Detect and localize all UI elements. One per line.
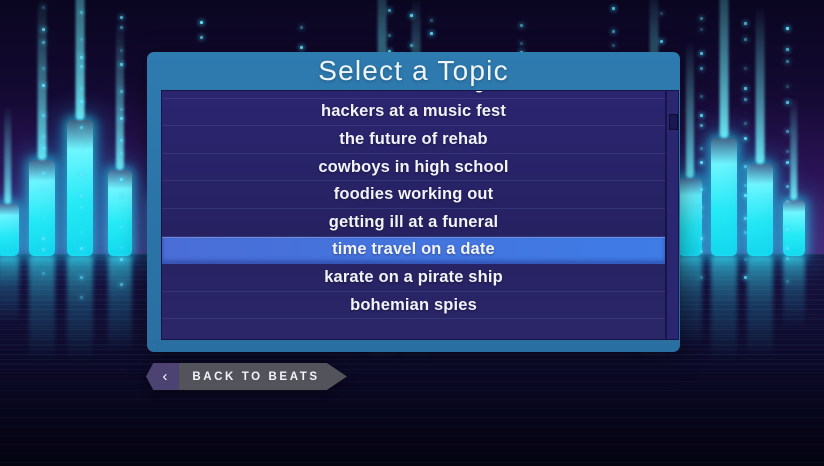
visualizer-bar-glow: [686, 41, 694, 178]
particle-dot: [612, 44, 615, 47]
particle-dot: [612, 30, 615, 33]
particle-dot: [120, 139, 123, 142]
particle-dot: [700, 114, 703, 117]
particle-dot: [80, 87, 83, 90]
particle-dot: [80, 194, 83, 197]
particle-dot: [80, 38, 83, 41]
particle-dot: [300, 26, 303, 29]
particle-dot: [80, 56, 83, 59]
particle-dot: [120, 195, 123, 198]
particle-dot: [42, 135, 45, 138]
particle-dot: [700, 52, 703, 55]
particle-dot: [700, 67, 703, 70]
particle-dot: [786, 280, 789, 283]
list-item[interactable]: heartache in las vegas: [162, 90, 665, 99]
particle-column: [120, 0, 123, 250]
visualizer-bar-reflection: [747, 256, 773, 358]
particle-dot: [786, 27, 789, 30]
particle-dot: [410, 44, 413, 47]
particle-dot: [42, 237, 45, 240]
particle-dot: [612, 7, 615, 10]
visualizer-bar: [0, 204, 19, 256]
visualizer-bar-glow: [720, 0, 729, 138]
particle-dot: [786, 101, 789, 104]
visualizer-bar-reflection: [783, 256, 805, 328]
particle-column: [80, 0, 83, 250]
particle-dot: [120, 117, 123, 120]
particle-column: [42, 0, 45, 250]
particle-dot: [744, 22, 747, 25]
particle-dot: [700, 206, 703, 209]
particle-dot: [120, 152, 123, 155]
visualizer-bar: [678, 178, 702, 256]
particle-dot: [744, 122, 747, 125]
particle-dot: [120, 225, 123, 228]
particle-dot: [744, 184, 747, 187]
particle-dot: [786, 200, 789, 203]
particle-dot: [120, 283, 123, 286]
list-item[interactable]: foodies working out: [162, 181, 665, 209]
particle-dot: [520, 24, 523, 27]
particle-dot: [42, 272, 45, 275]
particle-dot: [80, 65, 83, 68]
particle-column: [786, 0, 789, 250]
particle-dot: [42, 6, 45, 9]
particle-dot: [120, 258, 123, 261]
particle-dot: [744, 165, 747, 168]
particle-dot: [744, 67, 747, 70]
particle-dot: [660, 40, 663, 43]
particle-dot: [120, 63, 123, 66]
particle-dot: [80, 11, 83, 14]
particle-dot: [80, 296, 83, 299]
list-item[interactable]: bohemian spies: [162, 292, 665, 320]
particle-dot: [120, 108, 123, 111]
particle-dot: [388, 9, 391, 12]
particle-dot: [786, 228, 789, 231]
particle-dot: [80, 231, 83, 234]
list-item[interactable]: karate on a pirate ship: [162, 264, 665, 292]
particle-dot: [786, 161, 789, 164]
particle-dot: [388, 34, 391, 37]
visualizer-bar: [747, 164, 773, 256]
particle-dot: [80, 143, 83, 146]
particle-dot: [744, 38, 747, 41]
particle-dot: [42, 147, 45, 150]
particle-dot: [42, 41, 45, 44]
particle-dot: [744, 137, 747, 140]
particle-dot: [120, 90, 123, 93]
particle-dot: [786, 130, 789, 133]
particle-dot: [200, 21, 203, 24]
visualizer-bar-reflection: [67, 256, 93, 361]
particle-dot: [430, 19, 433, 22]
particle-dot: [786, 85, 789, 88]
particle-dot: [700, 17, 703, 20]
list-item[interactable]: the future of rehab: [162, 126, 665, 154]
particle-dot: [42, 28, 45, 31]
list-item[interactable]: getting ill at a funeral: [162, 209, 665, 237]
particle-dot: [744, 217, 747, 220]
particle-dot: [700, 161, 703, 164]
visualizer-bar-glow: [756, 6, 765, 164]
list-item[interactable]: [162, 319, 665, 340]
topic-list[interactable]: heartache in las vegashackers at a music…: [161, 90, 666, 340]
particle-dot: [42, 67, 45, 70]
particle-dot: [120, 49, 123, 52]
particle-dot: [786, 185, 789, 188]
particle-dot: [786, 150, 789, 153]
visualizer-bar-reflection: [0, 256, 19, 324]
select-topic-dialog: Select a Topic heartache in las vegashac…: [147, 52, 680, 352]
particle-dot: [42, 172, 45, 175]
particle-dot: [42, 84, 45, 87]
particle-dot: [42, 188, 45, 191]
back-to-beats-label: BACK TO BEATS: [179, 363, 347, 390]
particle-dot: [80, 276, 83, 279]
back-to-beats-button[interactable]: ‹ BACK TO BEATS: [146, 363, 347, 390]
particle-dot: [660, 12, 663, 15]
topic-list-inner: heartache in las vegashackers at a music…: [162, 90, 665, 340]
visualizer-bar: [711, 138, 737, 256]
particle-dot: [120, 178, 123, 181]
visualizer-bar-reflection: [711, 256, 737, 361]
particle-dot: [786, 60, 789, 63]
list-item[interactable]: cowboys in high school: [162, 154, 665, 182]
particle-dot: [300, 46, 303, 49]
particle-dot: [42, 114, 45, 117]
particle-dot: [120, 246, 123, 249]
particle-dot: [520, 42, 523, 45]
particle-dot: [430, 32, 433, 35]
topic-list-scrollbar[interactable]: [666, 90, 679, 340]
list-item[interactable]: hackers at a music fest: [162, 99, 665, 127]
particle-dot: [42, 248, 45, 251]
particle-dot: [744, 276, 747, 279]
particle-column: [700, 0, 703, 250]
page-title: Select a Topic: [147, 52, 680, 90]
particle-dot: [42, 217, 45, 220]
particle-dot: [700, 124, 703, 127]
particle-dot: [744, 98, 747, 101]
particle-dot: [786, 247, 789, 250]
particle-dot: [700, 237, 703, 240]
visualizer-bar-reflection: [108, 256, 132, 353]
particle-dot: [80, 247, 83, 250]
particle-dot: [700, 188, 703, 191]
particle-dot: [700, 215, 703, 218]
particle-dot: [120, 26, 123, 29]
particle-dot: [700, 147, 703, 150]
particle-dot: [744, 231, 747, 234]
list-item[interactable]: time travel on a date: [162, 237, 665, 265]
visualizer-bar-glow: [790, 96, 797, 200]
particle-dot: [744, 258, 747, 261]
particle-dot: [120, 16, 123, 19]
scrollbar-thumb[interactable]: [669, 114, 678, 130]
particle-dot: [80, 126, 83, 129]
visualizer-bar-glow: [4, 106, 11, 204]
particle-column: [744, 0, 747, 250]
particle-dot: [744, 194, 747, 197]
particle-dot: [410, 14, 413, 17]
particle-dot: [80, 173, 83, 176]
particle-dot: [786, 257, 789, 260]
particle-dot: [700, 250, 703, 253]
particle-dot: [700, 95, 703, 98]
particle-dot: [80, 206, 83, 209]
particle-dot: [786, 48, 789, 51]
visualizer-bar-reflection: [678, 256, 702, 346]
chevron-left-icon: ‹: [146, 363, 179, 390]
particle-dot: [80, 100, 83, 103]
particle-dot: [200, 36, 203, 39]
particle-dot: [744, 87, 747, 90]
particle-dot: [700, 276, 703, 279]
particle-dot: [700, 28, 703, 31]
